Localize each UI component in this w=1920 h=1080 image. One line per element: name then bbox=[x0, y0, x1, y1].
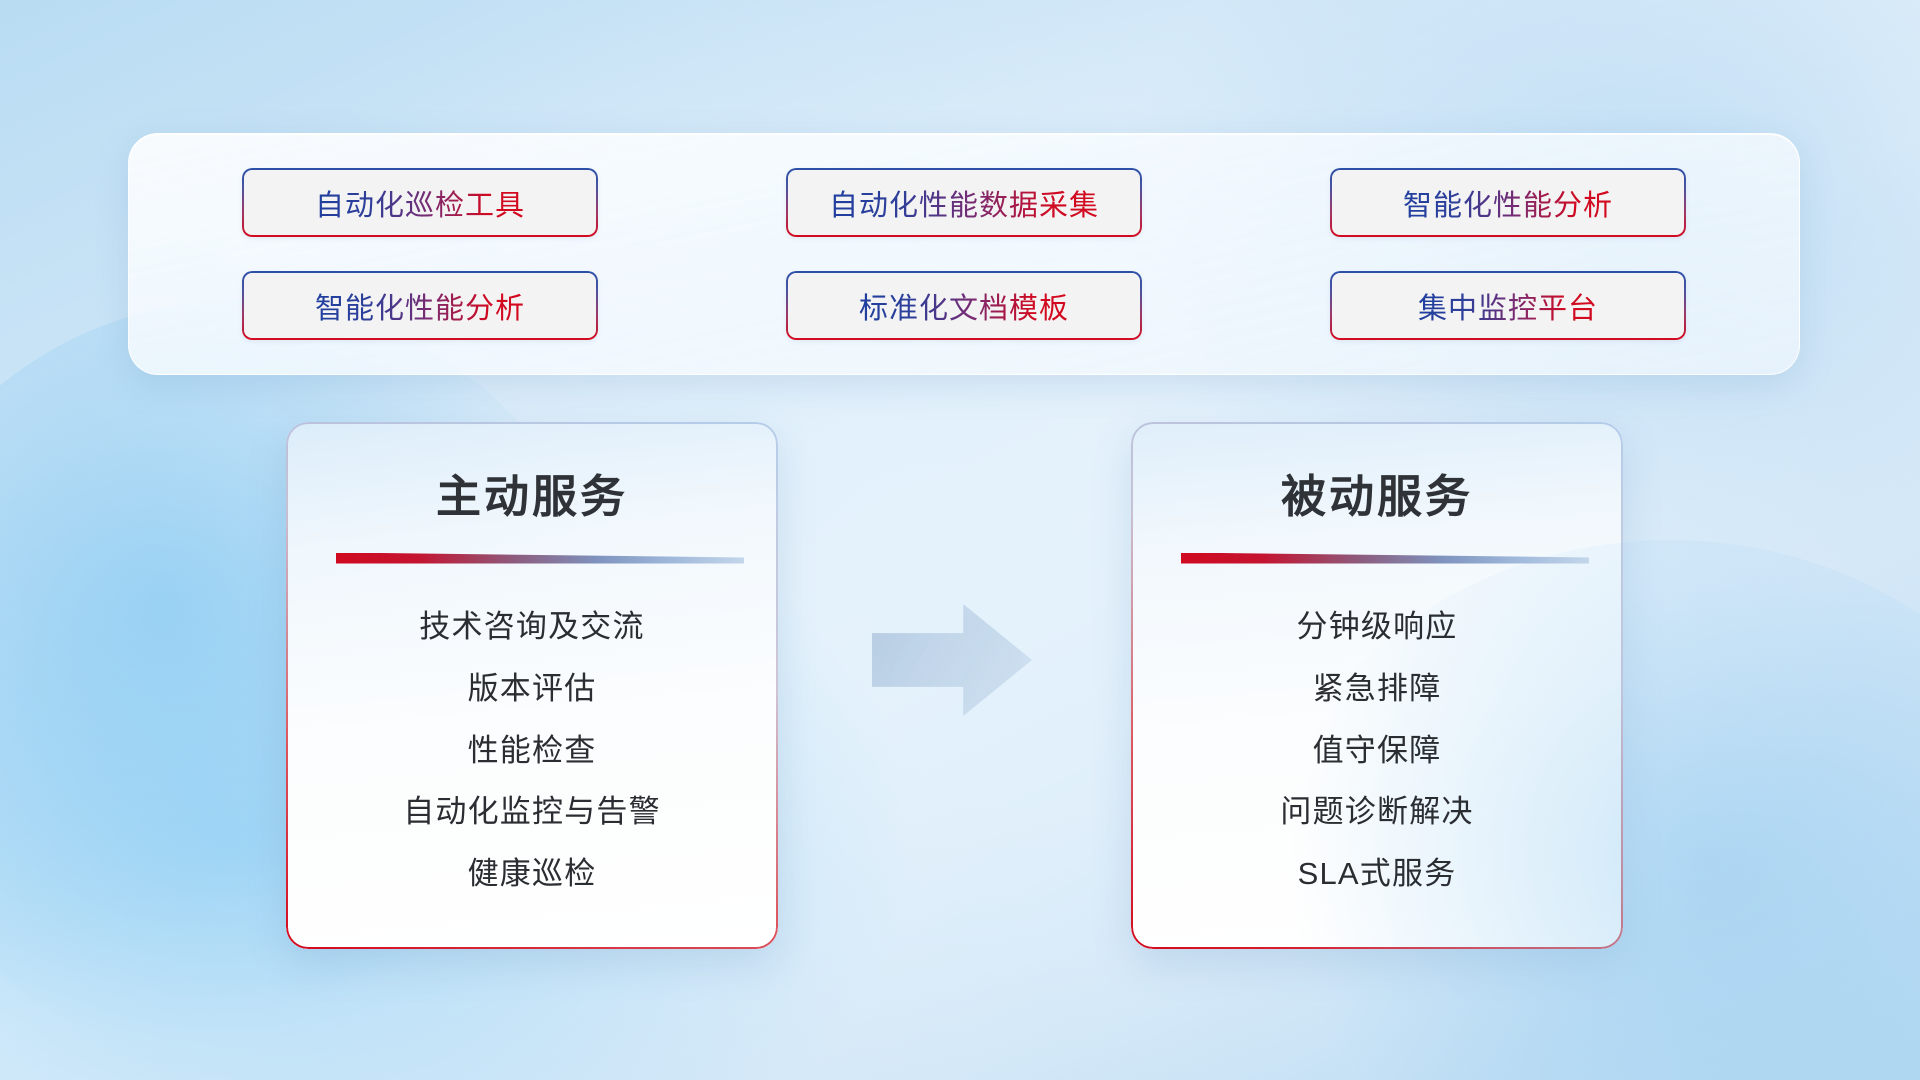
service-item: 技术咨询及交流 bbox=[419, 601, 644, 646]
service-card-reactive[interactable]: 被动服务 分钟级响应 紧急排障 值守保障 问题诊断解决 SLA式服务 bbox=[1131, 422, 1623, 949]
capability-pill[interactable]: 智能化性能分析 bbox=[1330, 168, 1686, 237]
capability-pill[interactable]: 标准化文档模板 bbox=[786, 271, 1142, 340]
slide-canvas: 自动化巡检工具 自动化性能数据采集 智能化性能分析 智能化性能分析 标准化文档模… bbox=[0, 0, 1920, 1080]
capability-pill-label: 智能化性能分析 bbox=[315, 285, 525, 327]
title-divider bbox=[320, 545, 744, 571]
service-item: 问题诊断解决 bbox=[1280, 786, 1473, 831]
capability-pill[interactable]: 自动化巡检工具 bbox=[242, 168, 598, 237]
flow-arrow-right-icon bbox=[872, 604, 1032, 716]
service-item: 值守保障 bbox=[1313, 725, 1442, 770]
capability-pill-label: 智能化性能分析 bbox=[1403, 182, 1613, 224]
capability-pill[interactable]: 自动化性能数据采集 bbox=[786, 168, 1142, 237]
divider-bar bbox=[336, 553, 744, 564]
capability-pill-label: 标准化文档模板 bbox=[859, 285, 1069, 327]
service-item: 性能检查 bbox=[468, 725, 597, 770]
capability-panel: 自动化巡检工具 自动化性能数据采集 智能化性能分析 智能化性能分析 标准化文档模… bbox=[128, 133, 1800, 375]
capability-pill-label: 自动化性能数据采集 bbox=[829, 182, 1099, 224]
capability-pill-label: 集中监控平台 bbox=[1418, 285, 1598, 327]
divider-bar bbox=[1181, 553, 1589, 564]
service-card-body: 被动服务 分钟级响应 紧急排障 值守保障 问题诊断解决 SLA式服务 bbox=[1131, 422, 1623, 949]
service-item: 分钟级响应 bbox=[1297, 601, 1458, 646]
service-item: SLA式服务 bbox=[1298, 848, 1457, 893]
service-card-title: 主动服务 bbox=[436, 460, 628, 525]
service-item: 紧急排障 bbox=[1313, 663, 1442, 708]
service-item: 健康巡检 bbox=[468, 848, 597, 893]
service-item-list: 分钟级响应 紧急排障 值守保障 问题诊断解决 SLA式服务 bbox=[1165, 585, 1589, 915]
service-item: 自动化监控与告警 bbox=[403, 786, 661, 831]
service-item-list: 技术咨询及交流 版本评估 性能检查 自动化监控与告警 健康巡检 bbox=[320, 585, 744, 915]
service-card-title: 被动服务 bbox=[1281, 460, 1473, 525]
capability-pill[interactable]: 智能化性能分析 bbox=[242, 271, 598, 340]
service-item: 版本评估 bbox=[468, 663, 597, 708]
service-card-proactive[interactable]: 主动服务 技术咨询及交流 版本评估 性能检查 自动化监控与告警 健康巡检 bbox=[286, 422, 778, 949]
capability-pill-label: 自动化巡检工具 bbox=[315, 182, 525, 224]
capability-pill[interactable]: 集中监控平台 bbox=[1330, 271, 1686, 340]
service-card-body: 主动服务 技术咨询及交流 版本评估 性能检查 自动化监控与告警 健康巡检 bbox=[286, 422, 778, 949]
title-divider bbox=[1165, 545, 1589, 571]
